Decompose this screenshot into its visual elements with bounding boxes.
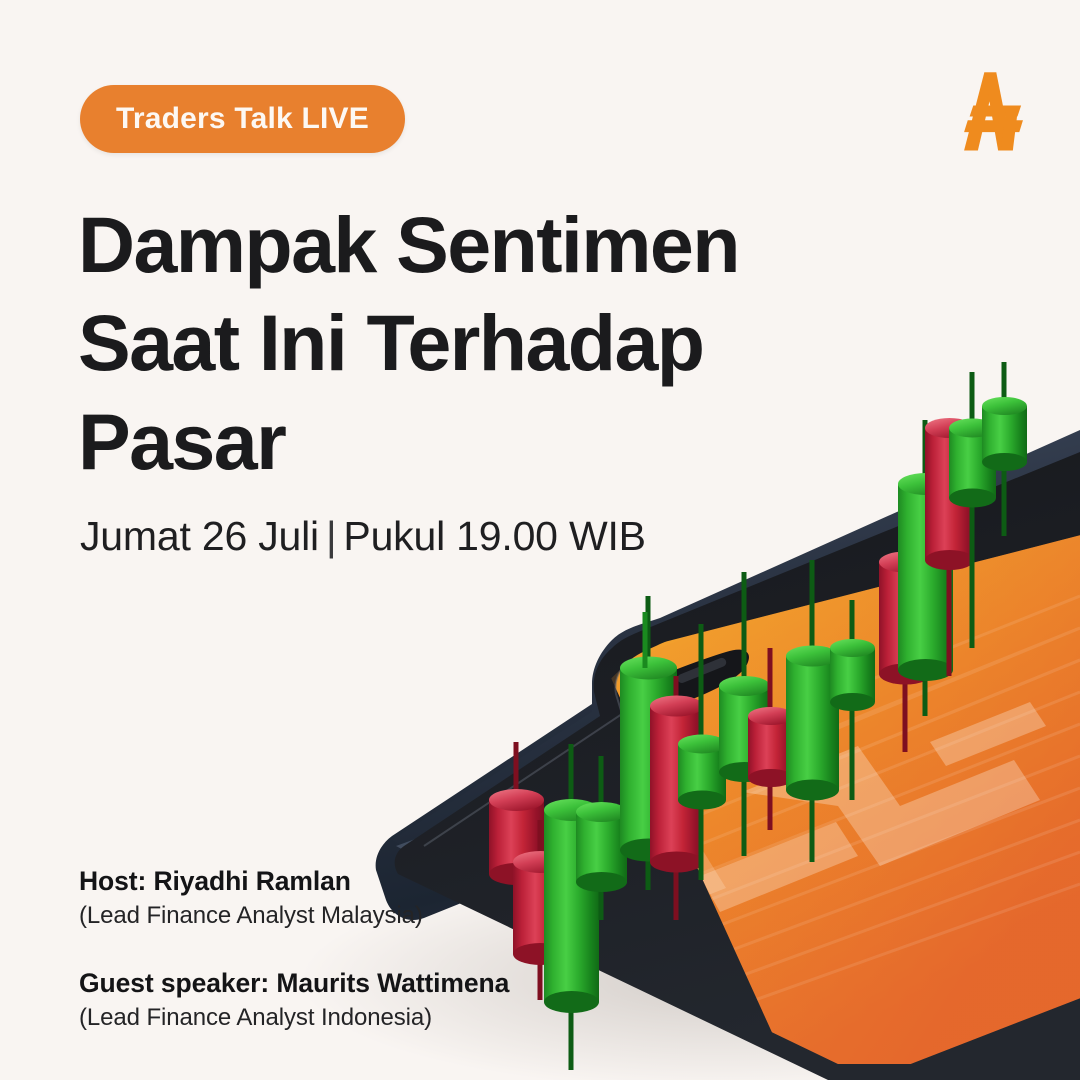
credit-guest: Guest speaker: Maurits Wattimena (Lead F… (79, 968, 509, 1032)
schedule-line: Jumat 26 Juli|Pukul 19.00 WIB (80, 513, 646, 560)
badge-label: Traders Talk LIVE (116, 102, 369, 136)
credits-block: Host: Riyadhi Ramlan (Lead Finance Analy… (79, 866, 509, 1032)
headline-line-1: Dampak Sentimen (78, 196, 838, 294)
schedule-time: Pukul 19.00 WIB (343, 513, 645, 559)
host-role: (Lead Finance Analyst Malaysia) (79, 902, 509, 930)
page-title: Dampak Sentimen Saat Ini Terhadap Pasar (78, 196, 838, 491)
schedule-date: Jumat 26 Juli (80, 513, 319, 559)
poster-canvas: Traders Talk LIVE Dampak Senti (0, 0, 1080, 1080)
host-name: Host: Riyadhi Ramlan (79, 866, 509, 897)
guest-role: (Lead Finance Analyst Indonesia) (79, 1004, 509, 1032)
headline-line-2: Saat Ini Terhadap (78, 294, 838, 392)
schedule-separator: | (319, 513, 343, 559)
guest-name: Guest speaker: Maurits Wattimena (79, 968, 509, 999)
live-session-badge: Traders Talk LIVE (80, 85, 405, 153)
credit-host: Host: Riyadhi Ramlan (Lead Finance Analy… (79, 866, 509, 930)
headline-line-3: Pasar (78, 393, 838, 491)
aspen-a-currency-logo-icon (942, 62, 1034, 160)
brand-logo (942, 62, 1034, 160)
